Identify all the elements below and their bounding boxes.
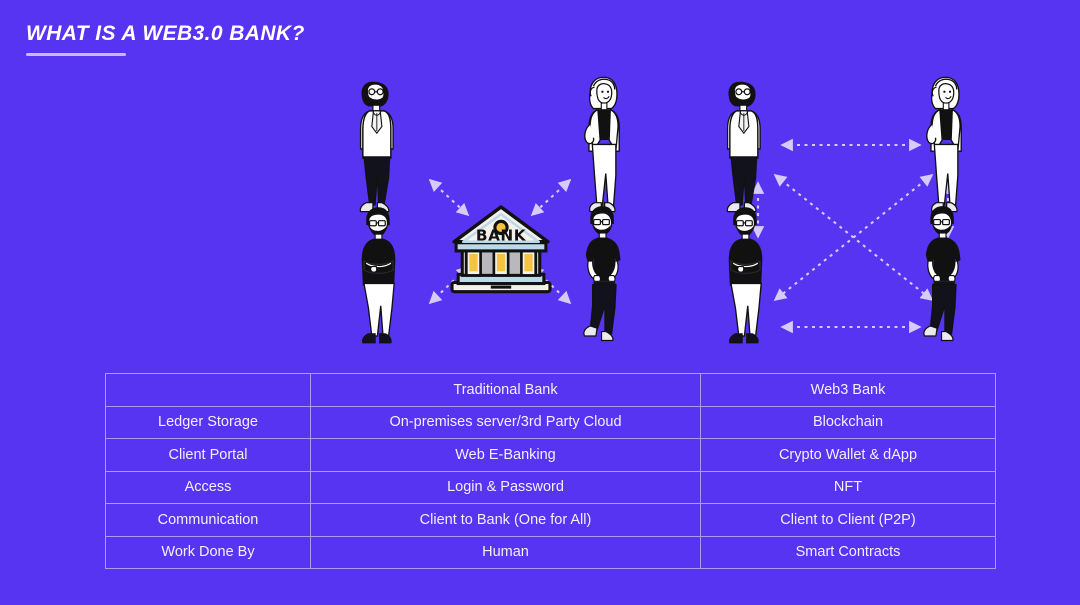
page-title: WHAT IS A WEB3.0 BANK? [26, 22, 305, 46]
client-woman-white-suit [585, 77, 619, 211]
cell-traditional: Web E-Banking [311, 439, 701, 472]
peer-man-black-outfit [924, 206, 961, 340]
header-blank [106, 374, 311, 407]
title-block: WHAT IS A WEB3.0 BANK? [26, 22, 305, 56]
cell-traditional: On-premises server/3rd Party Cloud [311, 406, 701, 439]
web3-p2p-diagram [727, 77, 961, 343]
traditional-bank-diagram [360, 77, 620, 343]
cell-web3: Smart Contracts [701, 536, 996, 569]
peer-woman-white-suit [927, 77, 961, 211]
cell-web3: NFT [701, 471, 996, 504]
illustration-area: BANK [0, 55, 1080, 365]
table-row: Communication Client to Bank (One for Al… [106, 504, 996, 537]
cell-traditional: Login & Password [311, 471, 701, 504]
row-label: Ledger Storage [106, 406, 311, 439]
bank-building-icon [452, 207, 550, 292]
client-man-black-top-arms-crossed [362, 207, 396, 343]
cell-web3: Crypto Wallet & dApp [701, 439, 996, 472]
header-traditional-bank: Traditional Bank [311, 374, 701, 407]
row-label: Access [106, 471, 311, 504]
cell-traditional: Client to Bank (One for All) [311, 504, 701, 537]
table-row: Work Done By Human Smart Contracts [106, 536, 996, 569]
cell-web3: Blockchain [701, 406, 996, 439]
client-man-black-outfit [584, 206, 621, 340]
client-bearded-man-white-jacket [360, 82, 393, 212]
cell-web3: Client to Client (P2P) [701, 504, 996, 537]
mesh-connections [758, 145, 948, 327]
table-row: Client Portal Web E-Banking Crypto Walle… [106, 439, 996, 472]
table-row: Access Login & Password NFT [106, 471, 996, 504]
row-label: Communication [106, 504, 311, 537]
peer-man-black-top-arms-crossed [729, 207, 763, 343]
peer-bearded-man-white-jacket [727, 82, 760, 212]
comparison-table: Traditional Bank Web3 Bank Ledger Storag… [105, 373, 996, 569]
row-label: Client Portal [106, 439, 311, 472]
table-header-row: Traditional Bank Web3 Bank [106, 374, 996, 407]
row-label: Work Done By [106, 536, 311, 569]
header-web3-bank: Web3 Bank [701, 374, 996, 407]
cell-traditional: Human [311, 536, 701, 569]
diagram-svg: BANK [0, 55, 1080, 365]
table-row: Ledger Storage On-premises server/3rd Pa… [106, 406, 996, 439]
